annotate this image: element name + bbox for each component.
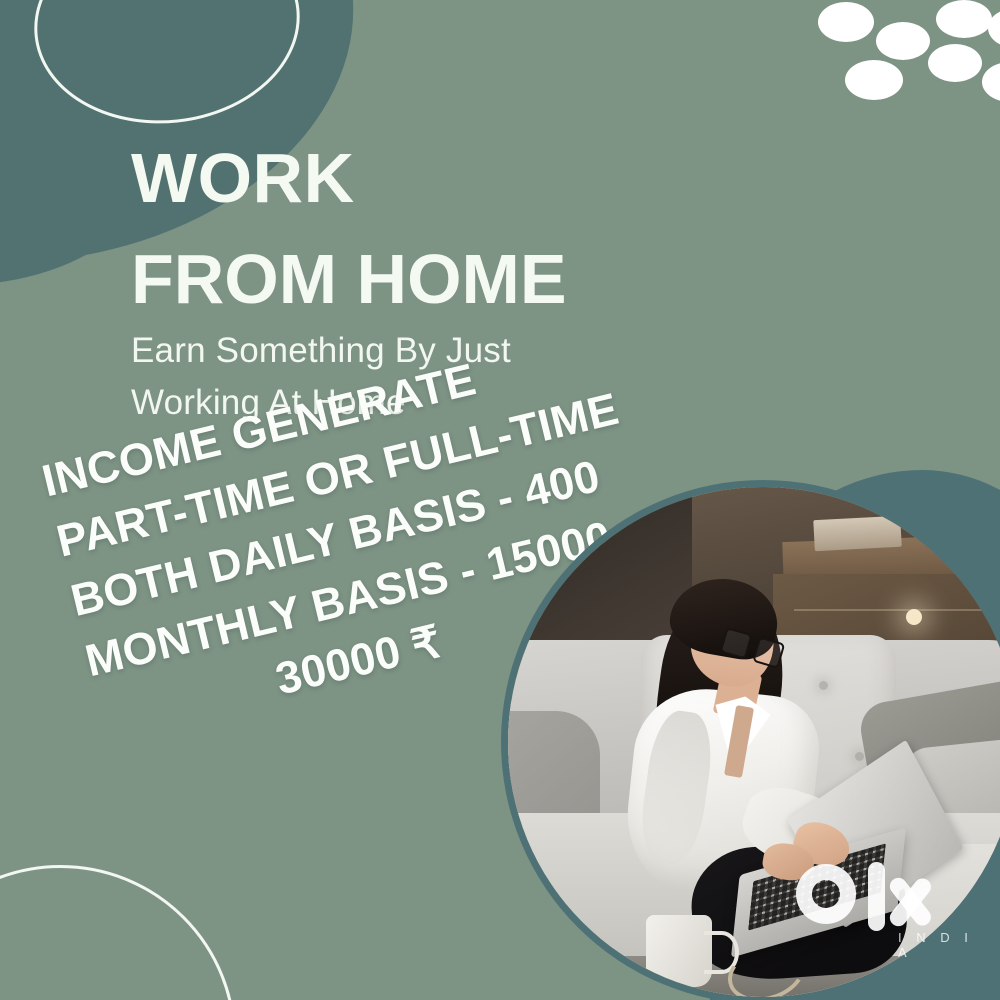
- decor-dot: [928, 44, 982, 82]
- poster-canvas: WORK FROM HOME Earn Something By Just Wo…: [0, 0, 1000, 1000]
- subtitle-line-1: Earn Something By Just: [131, 325, 511, 377]
- headline-line-2: FROM HOME: [131, 229, 567, 330]
- photo-sofa-tuft: [819, 681, 828, 690]
- decor-dot: [876, 22, 930, 60]
- decor-dot: [845, 60, 903, 100]
- page-title: WORK FROM HOME: [131, 128, 567, 330]
- headline-line-1: WORK: [131, 128, 567, 229]
- photo-sofa-tuft: [855, 752, 864, 761]
- work-from-home-photo: [508, 487, 1000, 997]
- circle-outline-bottom-left: [0, 865, 236, 1000]
- photo-books: [813, 515, 901, 550]
- photo-cabinet-line: [794, 609, 998, 611]
- decor-dot: [818, 2, 874, 42]
- photo-circle: [508, 487, 1000, 997]
- subtitle-line-2: Working At Home: [131, 377, 511, 429]
- photo-mug: [646, 915, 712, 986]
- decor-dot: [936, 0, 992, 38]
- decor-dot: [982, 62, 1000, 102]
- subtitle: Earn Something By Just Working At Home: [131, 325, 511, 429]
